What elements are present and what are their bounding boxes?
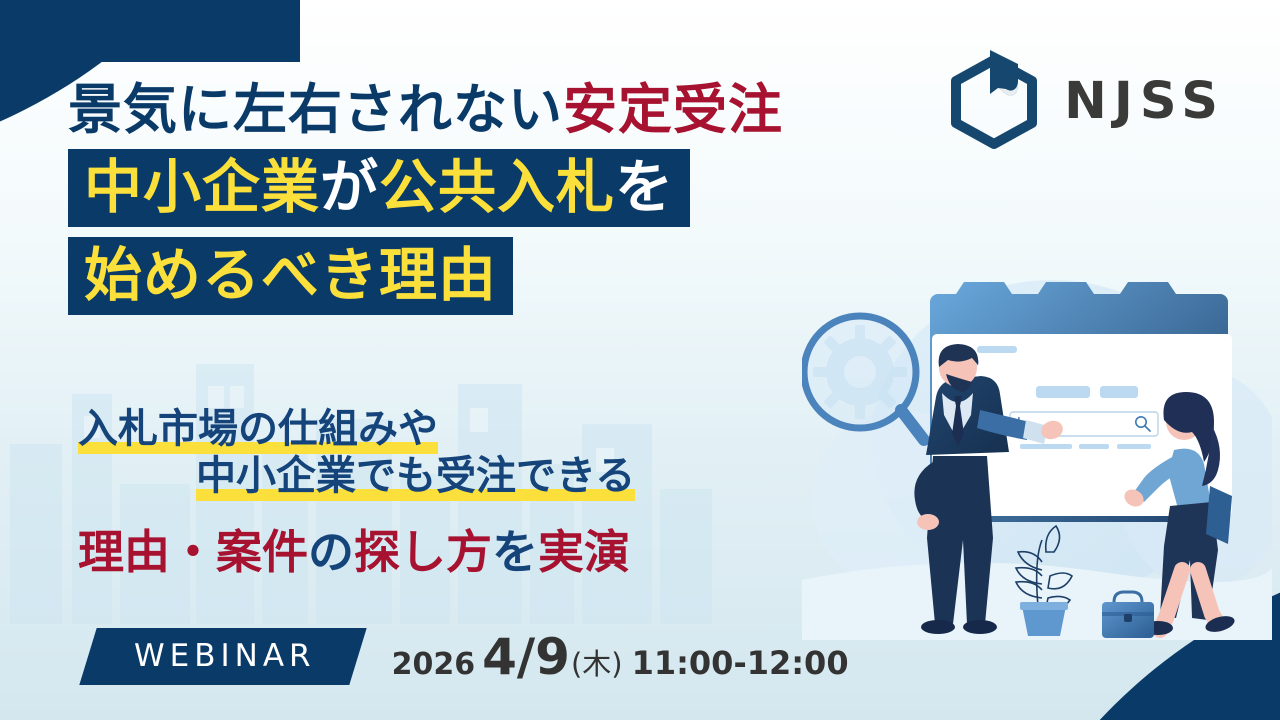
event-datetime: 2026 4/9 (木) 11:00-12:00: [392, 632, 849, 682]
njss-hexagon-logo-icon: [946, 48, 1042, 154]
headline-line-2-yellow-a: 中小企業: [84, 153, 320, 221]
subtitle-line-3-red-b: 探し方: [354, 525, 492, 579]
business-search-illustration: [802, 250, 1272, 640]
njss-wordmark: NJSS: [1064, 76, 1225, 127]
subtitle-line-2-text: 中小企業でも受注できる: [196, 453, 635, 501]
headline-line-2-white-a: が: [320, 153, 379, 221]
headline-line-1-navy: 景気に左右されない: [68, 78, 563, 141]
subtitle-line-2: 中小企業でも受注できる: [78, 453, 838, 500]
subtitle-line-3: 理由・案件の探し方を実演: [78, 516, 838, 582]
webinar-badge: WEBINAR: [79, 628, 366, 685]
headline-line-1: 景気に左右されない安定受注: [68, 82, 888, 139]
event-day-of-week: (木): [571, 650, 623, 679]
headline-block: 景気に左右されない安定受注 中小企業が公共入札を 始めるべき理由: [68, 82, 888, 315]
subtitle-line-3-navy-b: を: [492, 525, 538, 579]
subtitle-line-3-red-c: 実演: [538, 525, 630, 579]
subtitle-block: 入札市場の仕組みや 中小企業でも受注できる 理由・案件の探し方を実演: [78, 406, 838, 582]
subtitle-line-3-navy-a: の: [308, 525, 354, 579]
webinar-banner: NJSS 景気に左右されない安定受注 中小企業が公共入札を 始めるべき理由 入札…: [0, 0, 1280, 720]
headline-band-2: 中小企業が公共入札を: [68, 149, 690, 227]
event-year: 2026: [392, 650, 476, 680]
footer-row: WEBINAR 2026 4/9 (木) 11:00-12:00: [88, 628, 849, 685]
magnifying-glass-with-gear-icon: [804, 316, 924, 440]
headline-line-2-yellow-b: 公共入札: [379, 153, 615, 221]
headline-line-1-red: 安定受注: [563, 78, 783, 141]
subtitle-line-1-text: 入札市場の仕組みや: [78, 406, 438, 454]
corner-decoration-top-left-bar: [0, 0, 300, 62]
webinar-badge-label: WEBINAR: [134, 641, 316, 672]
event-time-range: 11:00-12:00: [632, 647, 849, 679]
headline-line-3-yellow: 始めるべき理由: [84, 241, 497, 309]
headline-band-3: 始めるべき理由: [68, 237, 513, 315]
njss-logo: NJSS: [946, 48, 1225, 154]
subtitle-line-3-red-a: 理由・案件: [78, 525, 308, 579]
event-month-day: 4/9: [482, 632, 570, 682]
subtitle-line-1: 入札市場の仕組みや: [78, 406, 838, 453]
headline-line-2-white-b: を: [615, 153, 674, 221]
